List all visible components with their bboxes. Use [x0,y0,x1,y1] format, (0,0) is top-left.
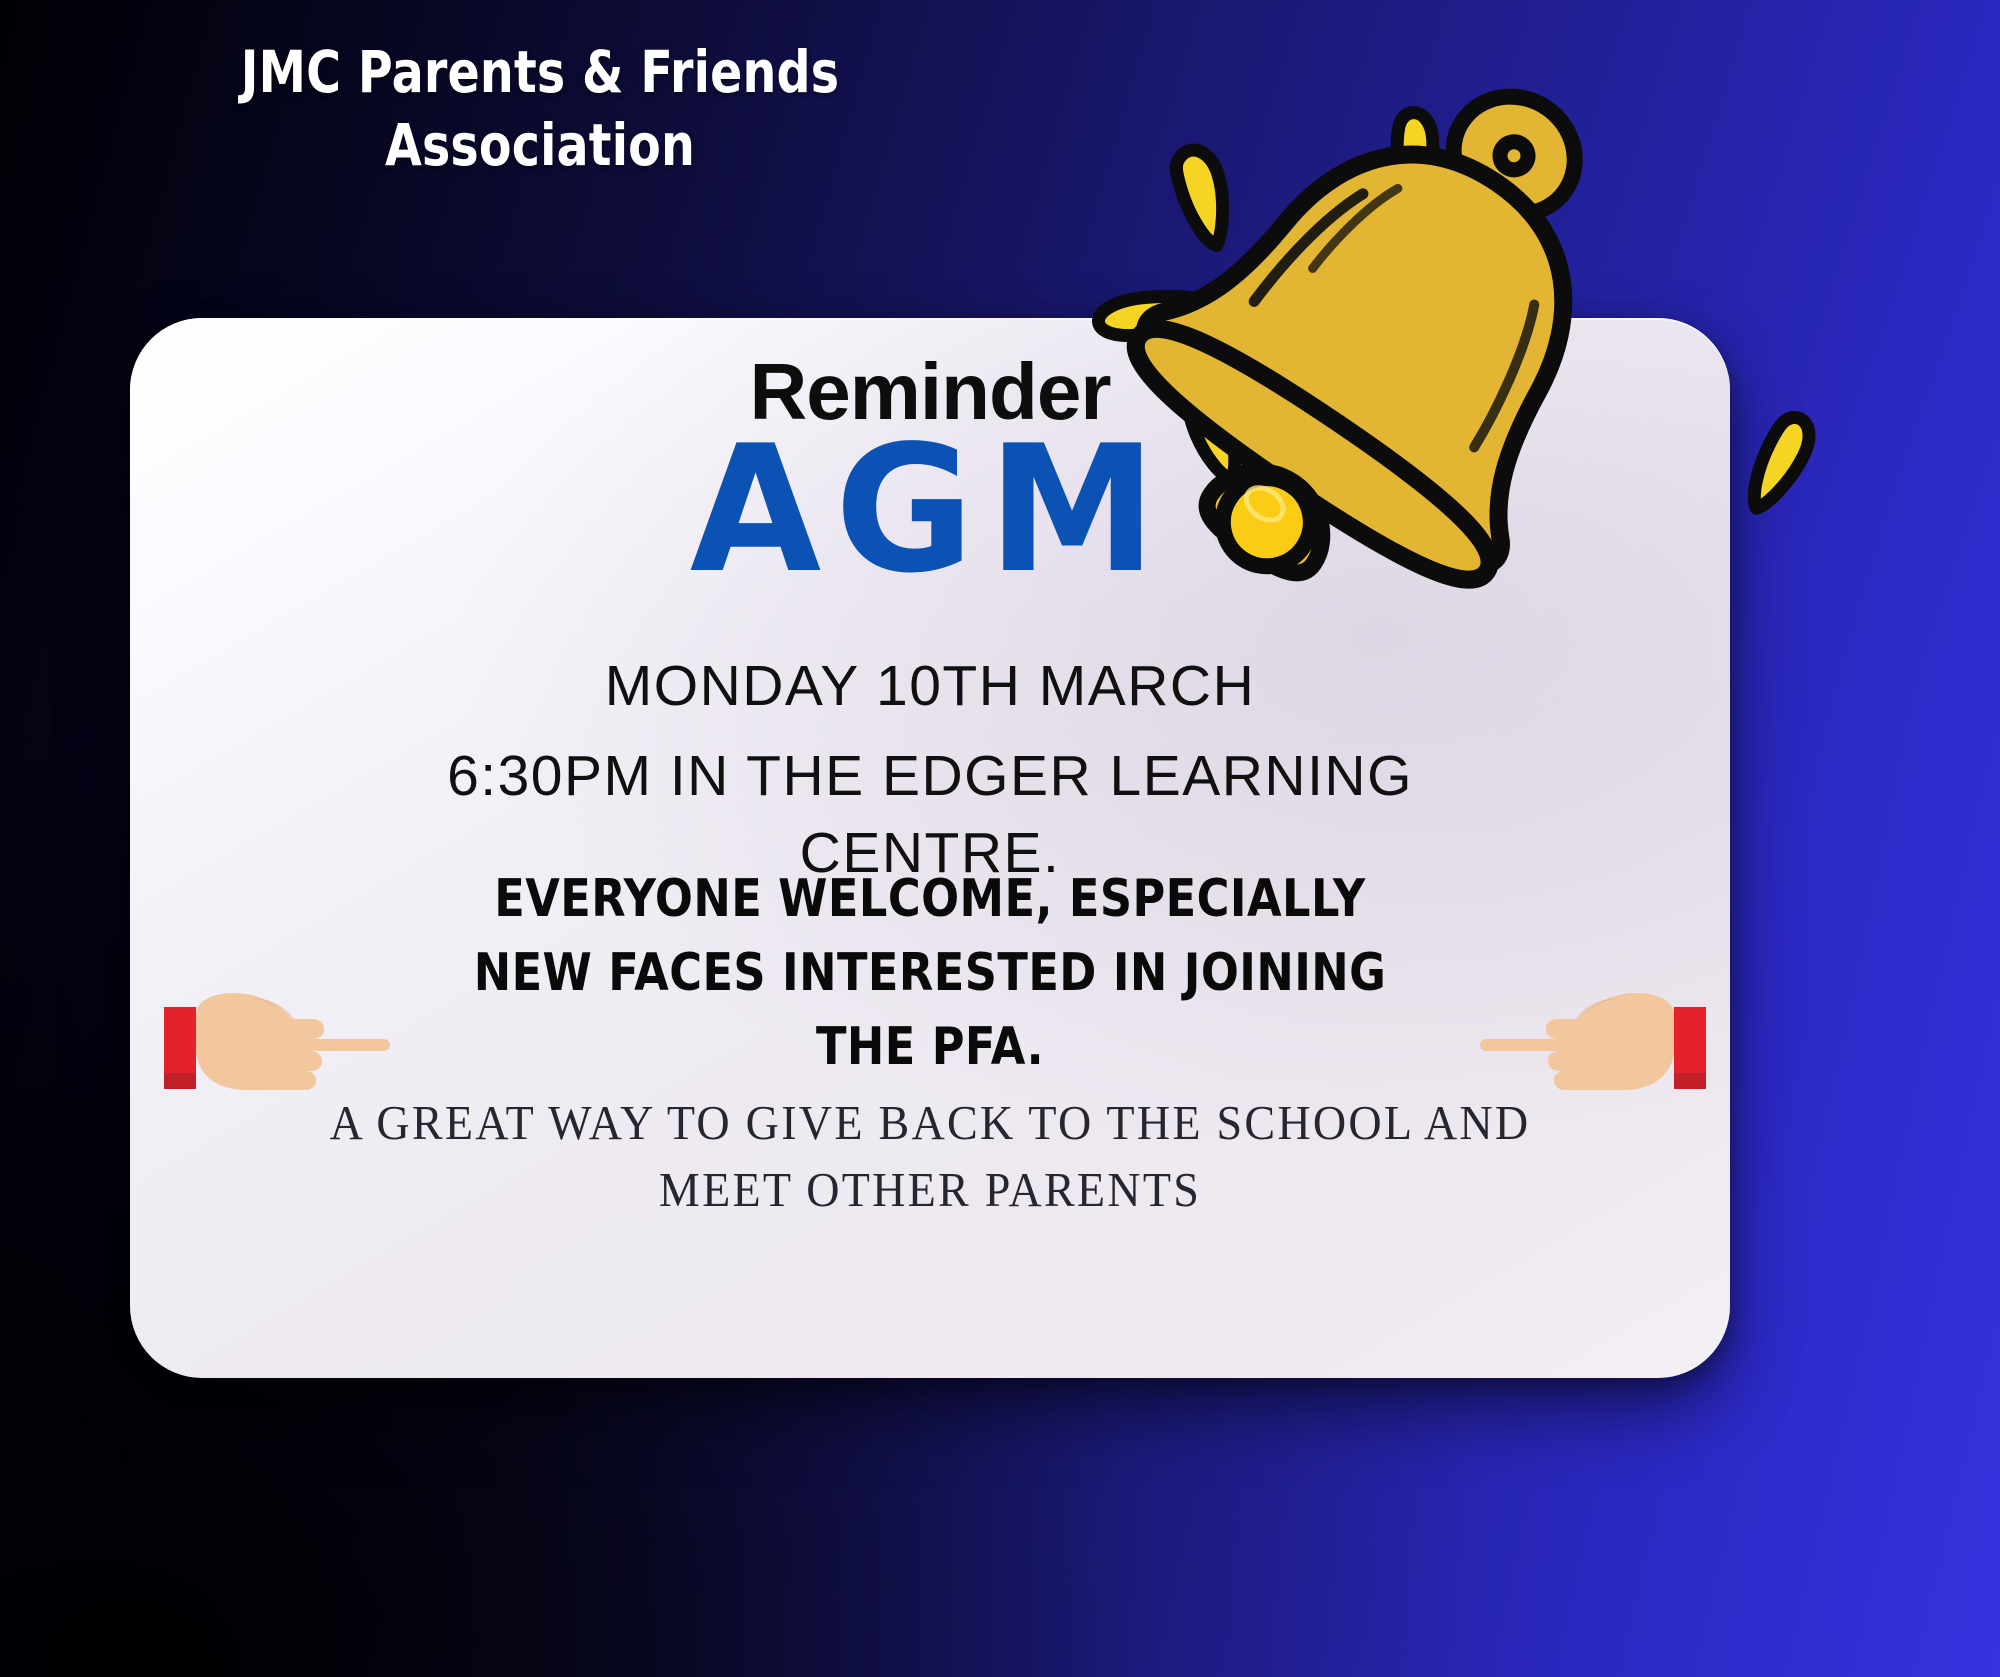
pointing-right-hand-icon [160,985,390,1105]
organisation-title-line1: JMC Parents & Friends [196,36,885,109]
motion-spark-right-icon [1710,400,1850,560]
pointing-left-hand-icon [1480,985,1710,1105]
bell-icon [1080,60,1700,600]
event-schedule: MONDAY 10TH MARCH 6:30PM IN THE EDGER LE… [130,648,1730,891]
poster-canvas: JMC Parents & Friends Association Remind… [0,0,2000,1677]
organisation-title-line2: Association [196,109,885,182]
event-date: MONDAY 10TH MARCH [605,654,1255,718]
organisation-title: JMC Parents & Friends Association [196,36,885,181]
welcome-message: EVERYONE WELCOME, ESPECIALLY NEW FACES I… [242,863,1618,1084]
tagline-message: A GREAT WAY TO GIVE BACK TO THE SCHOOL A… [178,1090,1682,1223]
